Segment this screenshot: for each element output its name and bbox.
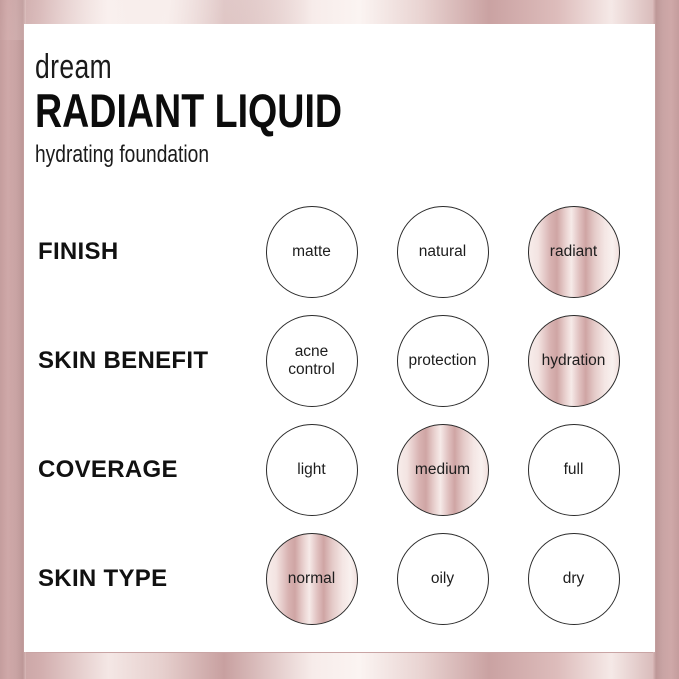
attribute-row-label: SKIN TYPE	[24, 565, 246, 593]
attribute-bubble-full: full	[528, 424, 620, 516]
frame-border-top	[0, 0, 679, 26]
attribute-bubble-protection: protection	[397, 315, 489, 407]
attribute-options: mattenaturalradiant	[246, 206, 655, 298]
attribute-option-cell: medium	[377, 424, 508, 516]
attribute-options: lightmediumfull	[246, 424, 655, 516]
attribute-options: normaloilydry	[246, 533, 655, 625]
frame-border-right	[653, 0, 679, 679]
attribute-option-cell: natural	[377, 206, 508, 298]
attribute-bubble-medium: medium	[397, 424, 489, 516]
frame-border-left	[0, 0, 26, 679]
attribute-option-cell: matte	[246, 206, 377, 298]
attribute-row-label: SKIN BENEFIT	[24, 347, 246, 375]
attribute-row: SKIN TYPEnormaloilydry	[24, 524, 655, 633]
attribute-row: SKIN BENEFITacne controlprotectionhydrat…	[24, 306, 655, 415]
product-card-frame: dream RADIANT LIQUID hydrating foundatio…	[0, 0, 679, 679]
attribute-option-cell: acne control	[246, 315, 377, 407]
attribute-option-cell: protection	[377, 315, 508, 407]
product-line-eyebrow: dream	[35, 50, 334, 84]
attribute-bubble-dry: dry	[528, 533, 620, 625]
product-name: RADIANT LIQUID	[35, 86, 342, 137]
product-title-block: dream RADIANT LIQUID hydrating foundatio…	[35, 50, 419, 168]
attribute-bubble-oily: oily	[397, 533, 489, 625]
frame-border-bottom	[0, 653, 679, 679]
product-info-card: dream RADIANT LIQUID hydrating foundatio…	[24, 24, 655, 652]
attribute-option-cell: oily	[377, 533, 508, 625]
attribute-option-cell: full	[508, 424, 639, 516]
attribute-option-cell: hydration	[508, 315, 639, 407]
product-descriptor: hydrating foundation	[35, 142, 342, 168]
attribute-option-cell: light	[246, 424, 377, 516]
attribute-grid: FINISHmattenaturalradiantSKIN BENEFITacn…	[24, 197, 655, 633]
attribute-bubble-normal: normal	[266, 533, 358, 625]
attribute-bubble-natural: natural	[397, 206, 489, 298]
attribute-bubble-acne-control: acne control	[266, 315, 358, 407]
attribute-row-label: COVERAGE	[24, 456, 246, 484]
attribute-bubble-hydration: hydration	[528, 315, 620, 407]
attribute-option-cell: dry	[508, 533, 639, 625]
attribute-bubble-matte: matte	[266, 206, 358, 298]
attribute-bubble-radiant: radiant	[528, 206, 620, 298]
attribute-option-cell: radiant	[508, 206, 639, 298]
attribute-bubble-light: light	[266, 424, 358, 516]
attribute-row-label: FINISH	[24, 238, 246, 266]
attribute-row: FINISHmattenaturalradiant	[24, 197, 655, 306]
attribute-option-cell: normal	[246, 533, 377, 625]
attribute-options: acne controlprotectionhydration	[246, 315, 655, 407]
attribute-row: COVERAGElightmediumfull	[24, 415, 655, 524]
